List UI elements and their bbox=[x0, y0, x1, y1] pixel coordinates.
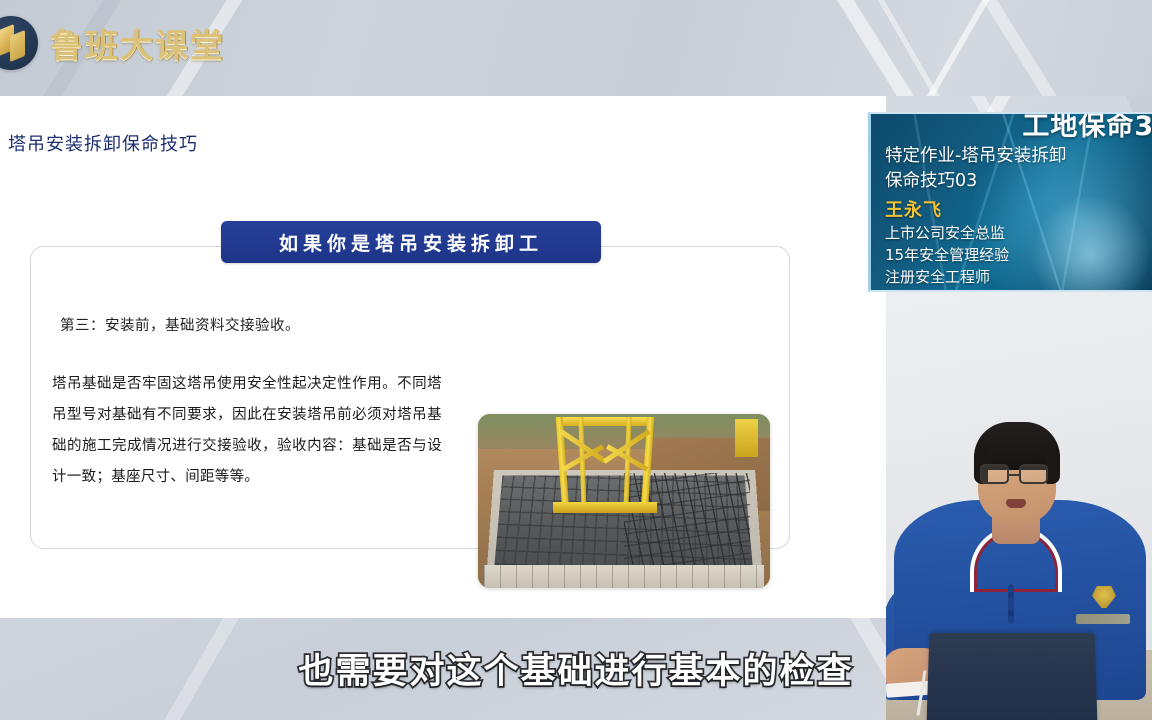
course-subtitle-line2: 保命技巧03 bbox=[885, 169, 1152, 194]
speaker-credential-0: 上市公司安全总监 bbox=[885, 222, 1152, 244]
speaker-credential-2: 注册安全工程师 bbox=[885, 266, 1152, 288]
course-title: 工地保命36计 bbox=[885, 112, 1152, 144]
lead-line: 第三：安装前，基础资料交接验收。 bbox=[60, 314, 442, 335]
speaker-credential-1: 15年安全管理经验 bbox=[885, 244, 1152, 266]
slide-body: 第三：安装前，基础资料交接验收。 塔吊基础是否牢固这塔吊使用安全性起决定性作用。… bbox=[52, 314, 442, 493]
glasses-icon bbox=[980, 464, 1009, 484]
crane-mast-icon bbox=[557, 417, 653, 513]
speaker-name: 王永飞 bbox=[885, 196, 1152, 222]
video-player-frame: 鲁班大课堂 塔吊安装拆卸保命技巧 如果你是塔吊安装拆卸工 第三：安装前，基础资料… bbox=[0, 0, 1152, 720]
ribbon-banner: 如果你是塔吊安装拆卸工 bbox=[221, 221, 601, 263]
body-paragraph: 塔吊基础是否牢固这塔吊使用安全性起决定性作用。不同塔吊型号对基础有不同要求，因此… bbox=[52, 369, 442, 493]
speaker-info-card: 工地保命36计 特定作业-塔吊安装拆卸 保命技巧03 王永飞 上市公司安全总监 … bbox=[868, 112, 1152, 292]
luban-diamond-icon bbox=[0, 16, 38, 70]
header-pattern-accent bbox=[792, 0, 1092, 96]
subtitle-caption: 也需要对这个基础进行基本的检查 bbox=[0, 643, 1152, 694]
brand-name: 鲁班大课堂 bbox=[50, 19, 225, 67]
course-subtitle-line1: 特定作业-塔吊安装拆卸 bbox=[885, 144, 1152, 169]
brand-logo: 鲁班大课堂 bbox=[0, 16, 225, 70]
slide-area: 塔吊安装拆卸保命技巧 如果你是塔吊安装拆卸工 第三：安装前，基础资料交接验收。 … bbox=[0, 96, 886, 618]
ribbon-label: 如果你是塔吊安装拆卸工 bbox=[279, 229, 543, 256]
tower-crane-foundation-photo bbox=[478, 414, 770, 588]
brand-header-band: 鲁班大课堂 bbox=[0, 0, 1152, 96]
slide-title: 塔吊安装拆卸保命技巧 bbox=[8, 130, 198, 156]
caption-text: 也需要对这个基础进行基本的检查 bbox=[298, 652, 853, 692]
